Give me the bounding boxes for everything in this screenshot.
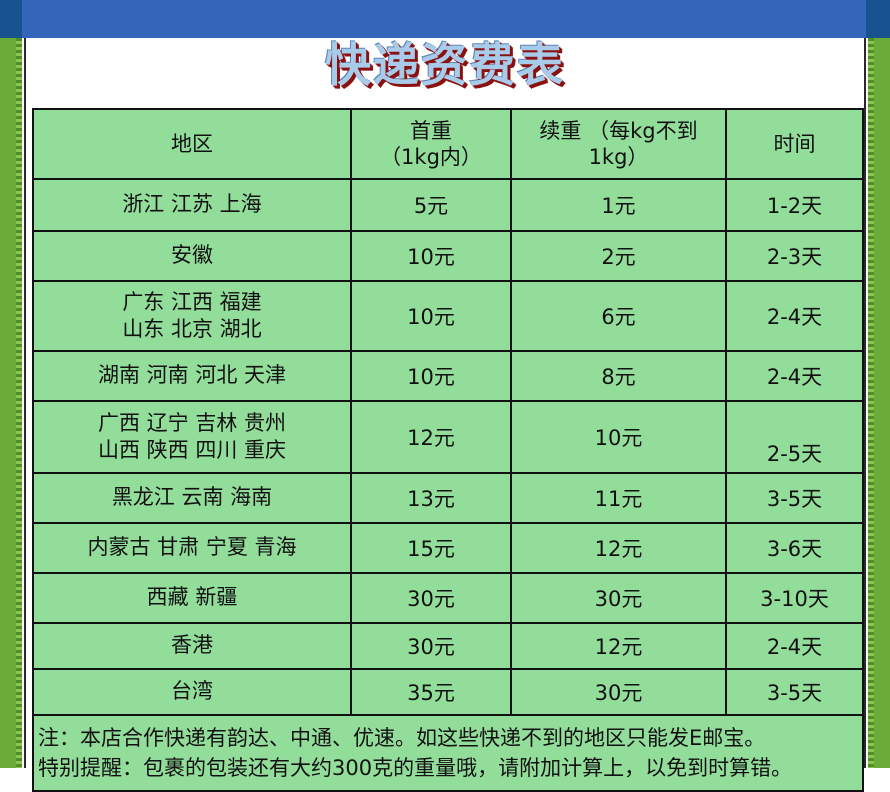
page-side-serration-right bbox=[868, 38, 874, 768]
cell-first-weight: 30元 bbox=[351, 623, 511, 669]
page-root: 快递资费表 地区 首重 （1kg内） 续重 （每kg不到1kg） bbox=[0, 0, 890, 768]
cell-time: 2-4天 bbox=[726, 623, 863, 669]
table-row: 香港 30元 12元 2-4天 bbox=[33, 623, 863, 669]
cell-extra-weight: 6元 bbox=[511, 281, 726, 351]
column-header-first-weight-line1: 首重 bbox=[410, 119, 452, 143]
table-row: 浙江 江苏 上海 5元 1元 1-2天 bbox=[33, 179, 863, 231]
page-title-wrap: 快递资费表 bbox=[24, 40, 866, 91]
cell-extra-weight: 1元 bbox=[511, 179, 726, 231]
cell-first-weight: 35元 bbox=[351, 669, 511, 715]
cell-first-weight: 30元 bbox=[351, 573, 511, 623]
cell-region: 浙江 江苏 上海 bbox=[33, 179, 351, 231]
cell-time: 2-5天 bbox=[726, 401, 863, 473]
table-note: 注：本店合作快递有韵达、中通、优速。如这些快递不到的地区只能发E邮宝。 特别提醒… bbox=[33, 715, 863, 791]
column-header-region: 地区 bbox=[33, 109, 351, 179]
cell-region: 安徽 bbox=[33, 231, 351, 281]
column-header-first-weight-line2: （1kg内） bbox=[380, 145, 482, 169]
column-header-first-weight: 首重 （1kg内） bbox=[351, 109, 511, 179]
cell-time: 3-6天 bbox=[726, 523, 863, 573]
table-row: 西藏 新疆 30元 30元 3-10天 bbox=[33, 573, 863, 623]
table-row: 黑龙江 云南 海南 13元 11元 3-5天 bbox=[33, 473, 863, 523]
cell-extra-weight: 10元 bbox=[511, 401, 726, 473]
cell-extra-weight: 30元 bbox=[511, 669, 726, 715]
page-side-serration-left bbox=[16, 38, 22, 768]
cell-region: 广西 辽宁 吉林 贵州 山西 陕西 四川 重庆 bbox=[33, 401, 351, 473]
cell-time: 3-5天 bbox=[726, 669, 863, 715]
cell-first-weight: 12元 bbox=[351, 401, 511, 473]
cell-region: 黑龙江 云南 海南 bbox=[33, 473, 351, 523]
table-note-line1: 注：本店合作快递有韵达、中通、优速。如这些快递不到的地区只能发E邮宝。 bbox=[38, 723, 858, 753]
column-header-time-line1: 时间 bbox=[774, 132, 816, 156]
column-header-extra-weight-line1: 续重 bbox=[539, 119, 581, 143]
window-chrome-bar[interactable] bbox=[22, 0, 866, 38]
table-note-row: 注：本店合作快递有韵达、中通、优速。如这些快递不到的地区只能发E邮宝。 特别提醒… bbox=[33, 715, 863, 791]
cell-time: 3-10天 bbox=[726, 573, 863, 623]
table-row: 广东 江西 福建 山东 北京 湖北 10元 6元 2-4天 bbox=[33, 281, 863, 351]
page-title: 快递资费表 bbox=[325, 40, 565, 91]
cell-extra-weight: 12元 bbox=[511, 623, 726, 669]
table-header-row: 地区 首重 （1kg内） 续重 （每kg不到1kg） 时间 bbox=[33, 109, 863, 179]
window-chrome-accent-left bbox=[0, 0, 22, 38]
cell-region: 香港 bbox=[33, 623, 351, 669]
table-row: 湖南 河南 河北 天津 10元 8元 2-4天 bbox=[33, 351, 863, 401]
table-row: 内蒙古 甘肃 宁夏 青海 15元 12元 3-6天 bbox=[33, 523, 863, 573]
cell-extra-weight: 30元 bbox=[511, 573, 726, 623]
cell-first-weight: 5元 bbox=[351, 179, 511, 231]
shipping-rate-table: 地区 首重 （1kg内） 续重 （每kg不到1kg） 时间 浙江 江苏 上海 bbox=[32, 108, 864, 792]
cell-first-weight: 10元 bbox=[351, 231, 511, 281]
cell-time: 2-4天 bbox=[726, 281, 863, 351]
cell-first-weight: 10元 bbox=[351, 281, 511, 351]
cell-time: 3-5天 bbox=[726, 473, 863, 523]
column-header-extra-weight-line2: （每kg不到1kg） bbox=[588, 119, 698, 169]
cell-extra-weight: 2元 bbox=[511, 231, 726, 281]
table-row: 安徽 10元 2元 2-3天 bbox=[33, 231, 863, 281]
column-header-time: 时间 bbox=[726, 109, 863, 179]
table-row: 广西 辽宁 吉林 贵州 山西 陕西 四川 重庆 12元 10元 2-5天 bbox=[33, 401, 863, 473]
cell-first-weight: 13元 bbox=[351, 473, 511, 523]
cell-time: 2-3天 bbox=[726, 231, 863, 281]
cell-region: 湖南 河南 河北 天津 bbox=[33, 351, 351, 401]
cell-time: 2-4天 bbox=[726, 351, 863, 401]
cell-time: 1-2天 bbox=[726, 179, 863, 231]
cell-region: 台湾 bbox=[33, 669, 351, 715]
cell-extra-weight: 8元 bbox=[511, 351, 726, 401]
window-chrome-accent-right bbox=[866, 0, 890, 38]
cell-region: 内蒙古 甘肃 宁夏 青海 bbox=[33, 523, 351, 573]
cell-region: 西藏 新疆 bbox=[33, 573, 351, 623]
column-header-extra-weight: 续重 （每kg不到1kg） bbox=[511, 109, 726, 179]
cell-first-weight: 15元 bbox=[351, 523, 511, 573]
cell-first-weight: 10元 bbox=[351, 351, 511, 401]
table-row: 台湾 35元 30元 3-5天 bbox=[33, 669, 863, 715]
cell-extra-weight: 12元 bbox=[511, 523, 726, 573]
cell-region: 广东 江西 福建 山东 北京 湖北 bbox=[33, 281, 351, 351]
column-header-region-line1: 地区 bbox=[171, 132, 213, 156]
cell-extra-weight: 11元 bbox=[511, 473, 726, 523]
table-note-line2: 特别提醒：包裹的包装还有大约300克的重量哦，请附加计算上，以免到时算错。 bbox=[38, 753, 858, 783]
